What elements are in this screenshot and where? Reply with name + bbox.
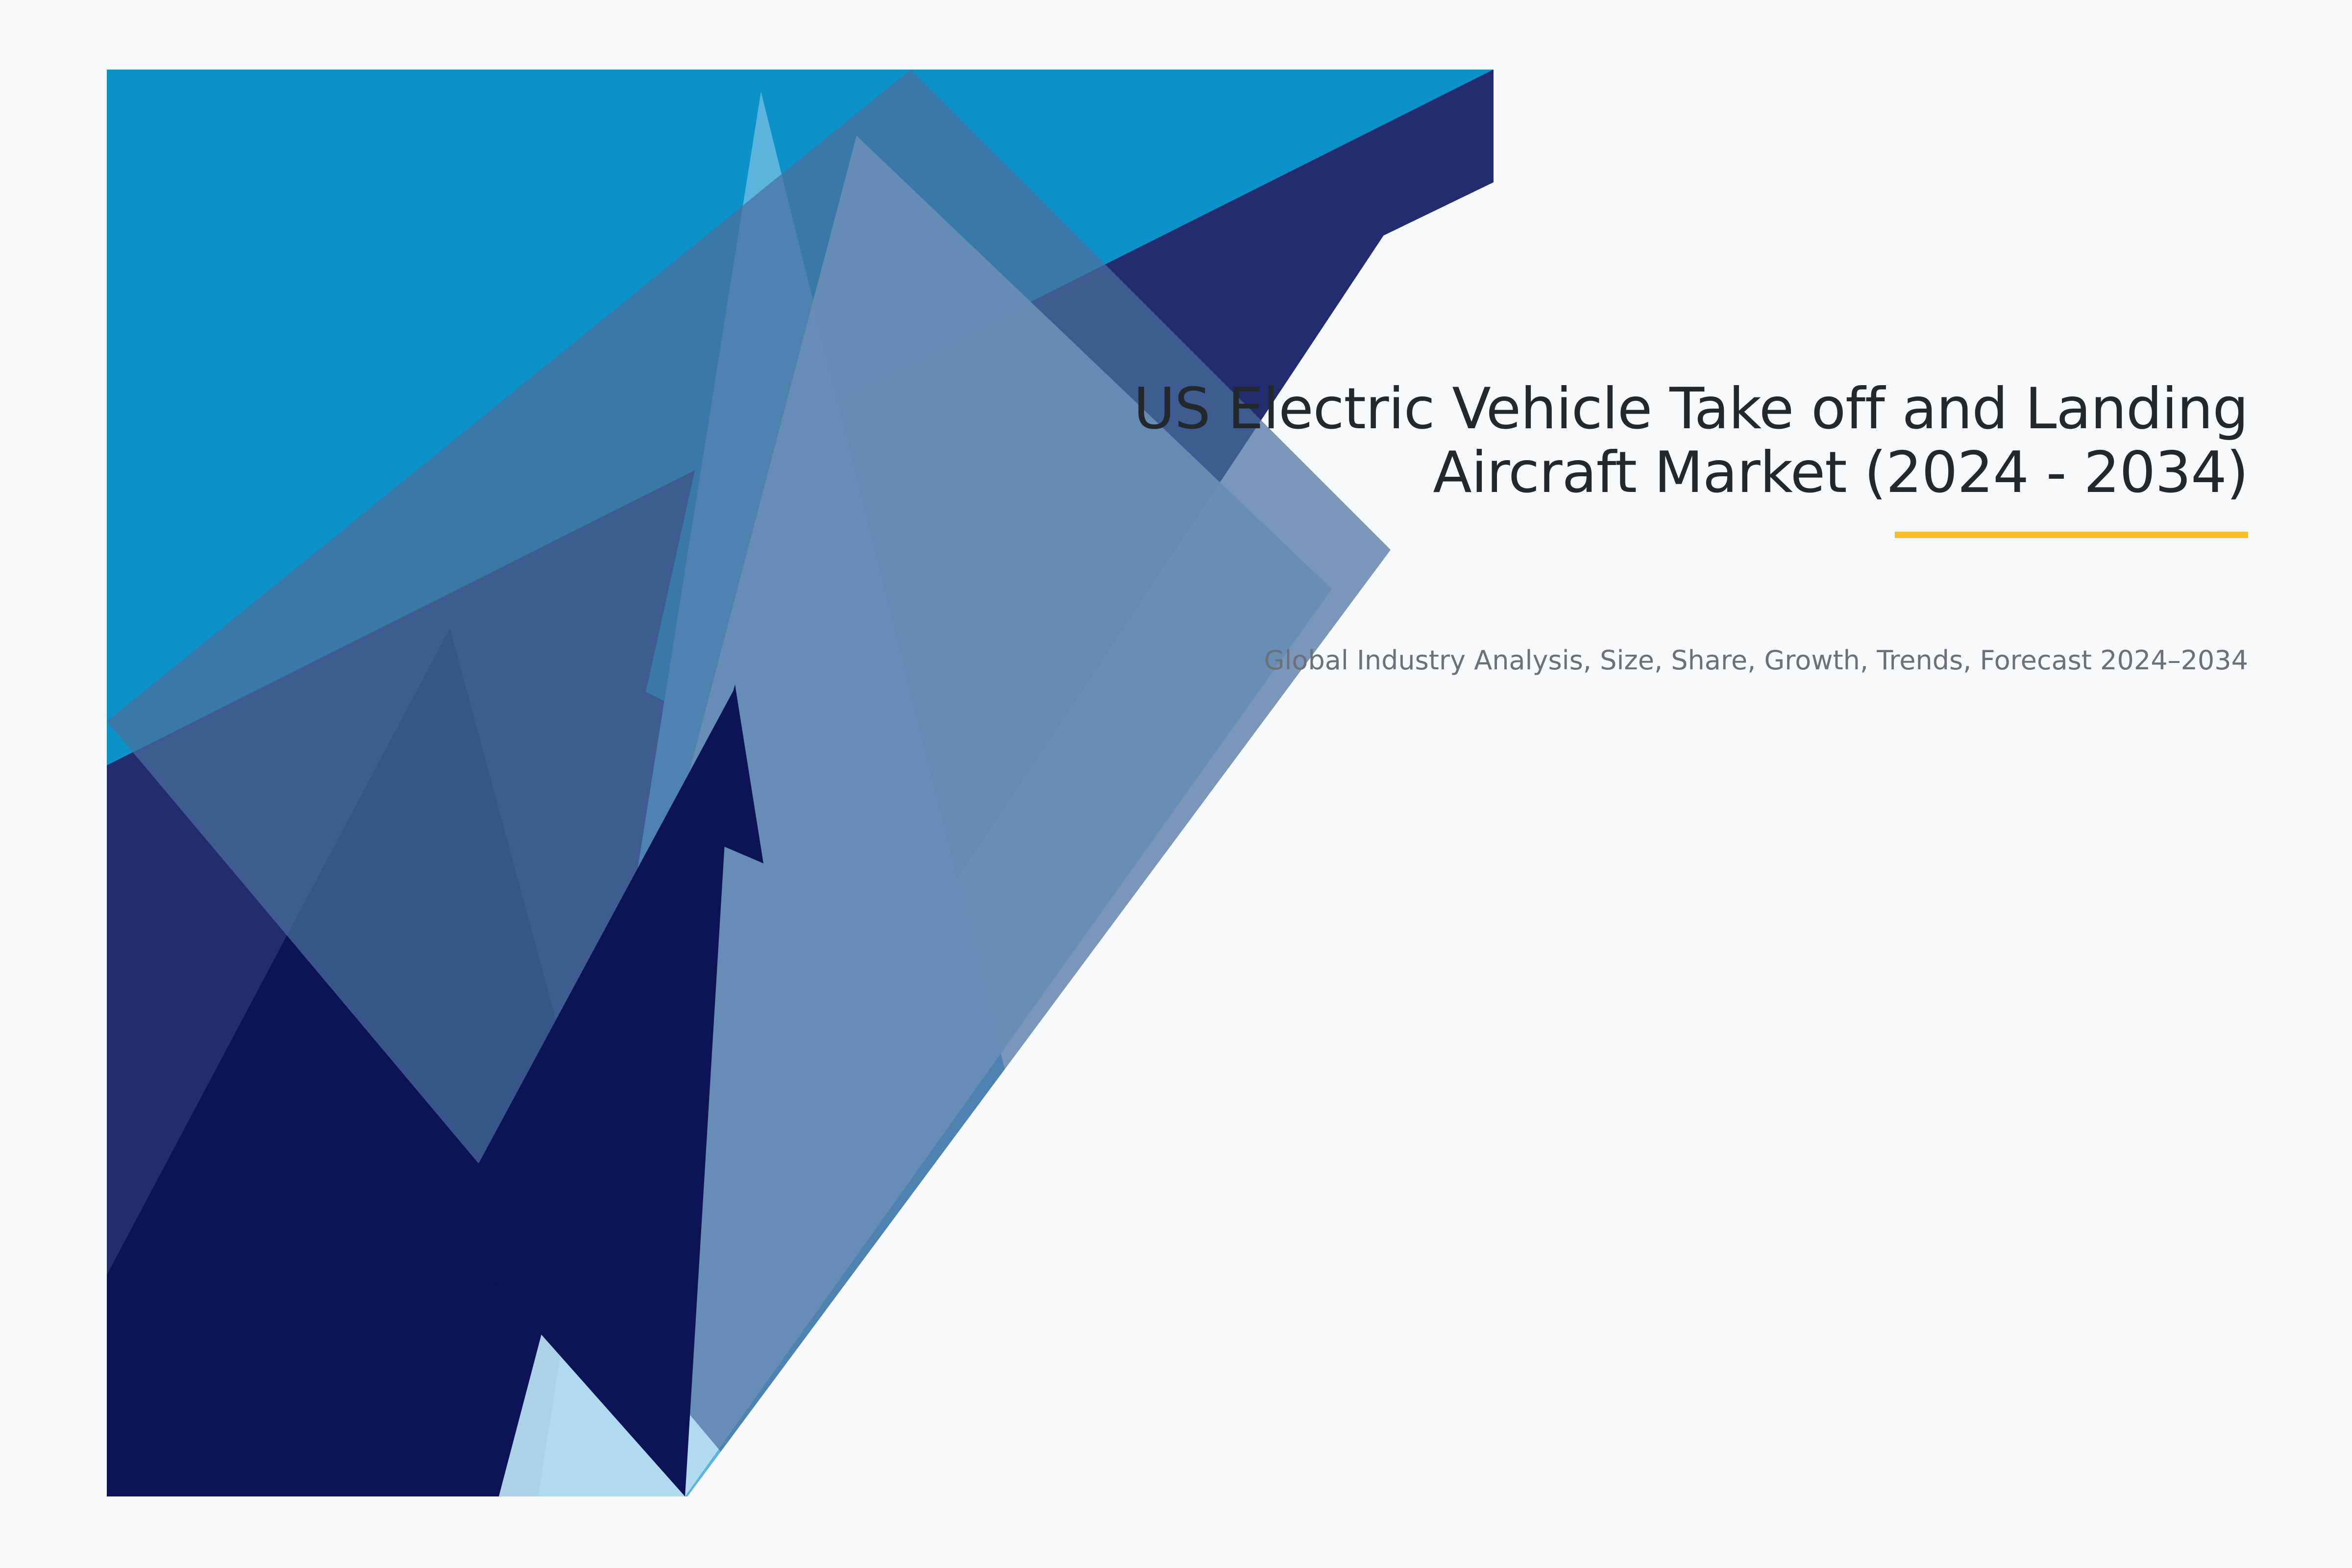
report-cover: US Electric Vehicle Take off and Landing… — [0, 0, 2352, 1568]
page-subtitle: Global Industry Analysis, Size, Share, G… — [1004, 643, 2248, 678]
title-block: US Electric Vehicle Take off and Landing… — [1004, 377, 2248, 505]
abstract-geometry-svg — [107, 70, 1494, 1496]
page-title: US Electric Vehicle Take off and Landing… — [1004, 377, 2248, 505]
accent-underline — [1895, 532, 2248, 538]
cover-artwork — [107, 70, 1494, 1496]
